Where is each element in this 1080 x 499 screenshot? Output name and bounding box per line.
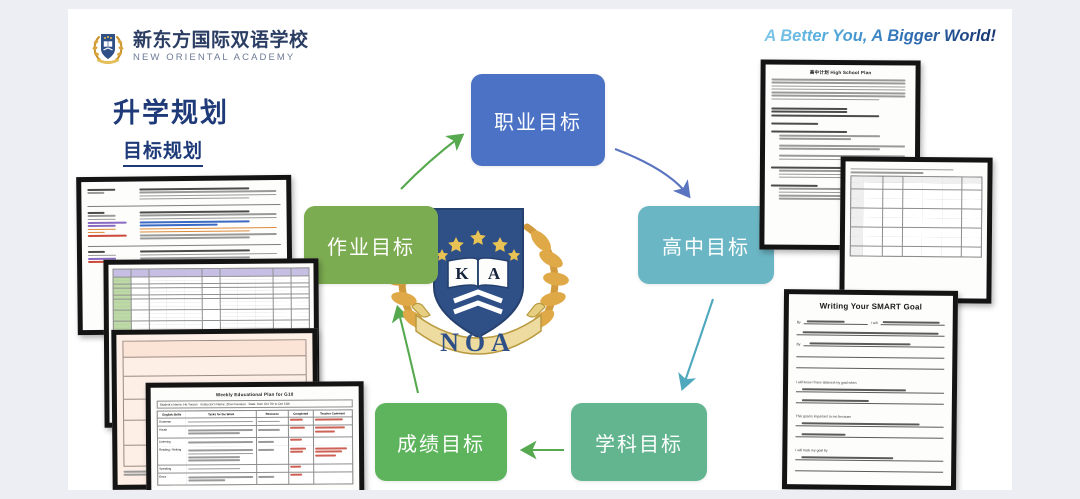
page-title: 升学规划: [113, 91, 229, 130]
weekly-plan-title: Weekly Educational Plan for G10: [157, 391, 353, 397]
weekly-plan-row-2: Listening: [158, 438, 186, 446]
document-photo-course-schedule: [839, 156, 992, 303]
goal-node-highschool-label: 高中目标: [662, 231, 750, 260]
weekly-plan-col-3: Completed: [288, 411, 312, 417]
goal-node-homework[interactable]: 作业目标: [304, 206, 438, 284]
tagline: A Better You, A Bigger World!: [764, 27, 996, 46]
weekly-plan-row-3: Reading / Writing: [158, 447, 186, 465]
weekly-plan-col-1: Tasks for the Week: [186, 411, 256, 417]
goal-node-homework-label: 作业目标: [327, 231, 415, 260]
weekly-plan-row-5: Extra: [158, 473, 186, 484]
page-subtitle: 目标规划: [123, 136, 203, 167]
document-photo-weekly-plan: Weekly Educational Plan for G10 Student'…: [146, 381, 365, 490]
high-school-plan-title: 高中计划 High School Plan: [772, 70, 910, 77]
weekly-plan-col-4: Teacher Comment: [313, 410, 351, 416]
weekly-plan-meta-student: Student's Name: He Yixuan: [160, 402, 198, 406]
smart-goal-title: Writing Your SMART Goal: [797, 301, 945, 312]
weekly-plan-meta-instructor: Instructor's Name: Zhao Caoxian: [200, 402, 245, 406]
weekly-plan-row-4: Speaking: [158, 465, 186, 473]
goal-node-career-label: 职业目标: [494, 106, 582, 135]
document-photo-smart-goal: Writing Your SMART Goal By I will By I w…: [782, 289, 958, 490]
goal-node-score-label: 成绩目标: [397, 428, 485, 457]
weekly-plan-col-2: Resource: [257, 411, 288, 417]
svg-text:K: K: [455, 264, 469, 283]
svg-text:A: A: [488, 264, 501, 283]
brand-name-cn: 新东方国际双语学校: [133, 31, 309, 50]
brand-name-en: NEW ORIENTAL ACADEMY: [133, 53, 309, 63]
school-logo-block: 新东方国际双语学校 NEW ORIENTAL ACADEMY: [90, 28, 309, 66]
weekly-plan-row-0: Grammar: [158, 418, 186, 426]
weekly-plan-row-1: Vocab: [158, 426, 186, 437]
school-emblem-small-icon: [90, 28, 126, 66]
emblem-banner-text: NOA: [440, 328, 516, 357]
goal-node-subject-label: 学科目标: [595, 428, 683, 457]
goal-node-highschool[interactable]: 高中目标: [638, 206, 774, 284]
goal-node-career[interactable]: 职业目标: [471, 74, 605, 166]
goal-node-subject[interactable]: 学科目标: [571, 403, 707, 481]
open-book-icon: K A: [448, 258, 508, 288]
presentation-slide: 新东方国际双语学校 NEW ORIENTAL ACADEMY 升学规划 目标规划…: [68, 9, 1012, 490]
weekly-plan-col-0: English Skills: [158, 411, 186, 417]
goal-node-score[interactable]: 成绩目标: [375, 403, 507, 481]
weekly-plan-meta-date: Date: from Oct 7th to Oct 13th: [249, 402, 290, 406]
